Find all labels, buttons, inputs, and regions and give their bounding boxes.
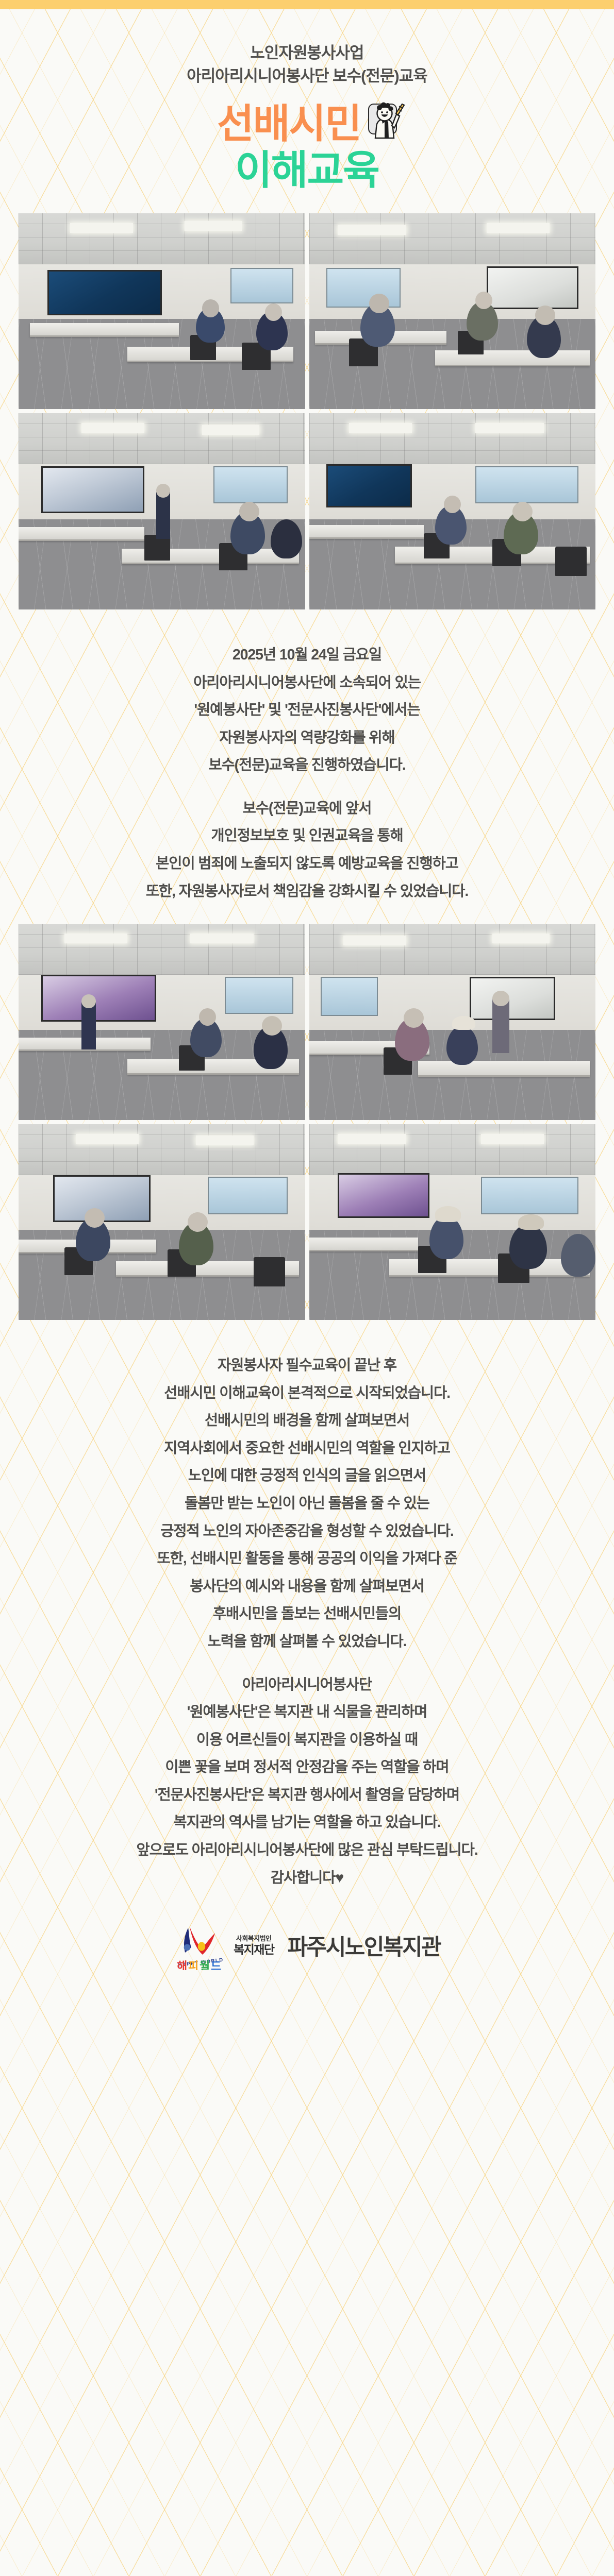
photo-group-lecture-room-photos-1 — [0, 213, 614, 609]
paragraph-line: 선배시민의 배경을 함께 살펴보면서 — [9, 1407, 605, 1435]
paragraph-line: 지역사회에서 중요한 선배시민의 역할을 인지하고 — [9, 1435, 605, 1463]
paragraph-line: 감사합니다♥ — [9, 1865, 605, 1892]
foundation-type-label: 사회복지법인 — [234, 1935, 274, 1942]
paragraph-line: '원예봉사단' 및 '전문사진봉사단'에서는 — [9, 697, 605, 724]
paragraph-line: 보수(전문)교육에 앞서 — [9, 795, 605, 823]
svg-text:해: 해 — [177, 1960, 187, 1970]
person-raising-hand-icon — [368, 104, 397, 134]
svg-text:드: 드 — [211, 1960, 221, 1970]
paragraph-line: 노인에 대한 긍정적 인식의 글을 읽으면서 — [9, 1462, 605, 1490]
photo-thumbnail — [309, 213, 596, 410]
footer: HAPPY WORLD 해 피 월 드 사회복지법인 복지재단 파주시노인복지관 — [0, 1921, 614, 1988]
paragraph-line: 노력을 함께 살펴볼 수 있었습니다. — [9, 1628, 605, 1656]
photo-thumbnail — [309, 1124, 596, 1320]
header-line-2: 아리아리시니어봉사단 보수(전문)교육 — [0, 64, 614, 88]
paragraph-line: 이용 어르신들이 복지관을 이용하실 때 — [9, 1726, 605, 1754]
svg-text:피: 피 — [188, 1960, 198, 1970]
top-accent-bar — [0, 0, 614, 9]
photo-thumbnail — [309, 924, 596, 1120]
title-orange-text: 선배시민 — [217, 101, 361, 146]
paragraph-line: 아리아리시니어봉사단에 소속되어 있는 — [9, 669, 605, 697]
title-green-text: 이해교육 — [0, 146, 614, 194]
paragraph-line: 아리아리시니어봉사단 — [9, 1671, 605, 1699]
paragraph-line: 개인정보보호 및 인권교육을 통해 — [9, 822, 605, 850]
photo-thumbnail — [19, 924, 305, 1120]
title-first-row: 선배시민 — [0, 101, 614, 146]
poster-title: 선배시민 — [0, 101, 614, 194]
paragraph-line: 돌봄만 받는 노인이 아닌 돌봄을 줄 수 있는 — [9, 1490, 605, 1518]
paragraph-line: '전문사진봉사단'은 복지관 행사에서 촬영을 담당하며 — [9, 1782, 605, 1809]
photo-thumbnail — [19, 213, 305, 410]
text-block-intro-paragraph: 2025년 10월 24일 금요일 아리아리시니어봉사단에 소속되어 있는 '원… — [0, 641, 614, 905]
paragraph-line: 앞으로도 아리아리시니어봉사단에 많은 관심 부탁드립니다. — [9, 1837, 605, 1865]
foundation-wordmark: 사회복지법인 복지재단 — [234, 1935, 274, 1956]
photo-group-lecture-room-photos-2 — [0, 924, 614, 1320]
photo-thumbnail — [19, 1124, 305, 1320]
paragraph-line: 이쁜 꽃을 보며 정서적 안정감을 주는 역할을 하며 — [9, 1754, 605, 1782]
foundation-name-label: 복지재단 — [234, 1943, 274, 1956]
paragraph-line: 2025년 10월 24일 금요일 — [9, 641, 605, 669]
paragraph-line: 보수(전문)교육을 진행하였습니다. — [9, 752, 605, 779]
paragraph-line: 후배시민을 돌보는 선배시민들의 — [9, 1600, 605, 1628]
paragraph-line: 본인이 범죄에 노출되지 않도록 예방교육을 진행하고 — [9, 850, 605, 878]
paragraph-spacer — [9, 1656, 605, 1671]
paragraph-line: 자원봉사자 필수교육이 끝난 후 — [9, 1352, 605, 1380]
paragraph-line: 선배시민 이해교육이 본격적으로 시작되었습니다. — [9, 1380, 605, 1408]
paragraph-line: 봉사단의 예시와 내용을 함께 살펴보면서 — [9, 1573, 605, 1601]
photo-thumbnail — [19, 413, 305, 609]
paragraph-line: 긍정적 노인의 자아존중감을 형성할 수 있었습니다. — [9, 1518, 605, 1546]
happy-world-crown-logo-icon: HAPPY WORLD 해 피 월 드 — [174, 1921, 228, 1970]
organization-name: 파주시노인복지관 — [288, 1929, 440, 1961]
paragraph-line: '원예봉사단'은 복지관 내 식물을 관리하며 — [9, 1699, 605, 1726]
paragraph-spacer — [9, 779, 605, 795]
paragraph-line: 또한, 자원봉사자로서 책임감을 강화시킬 수 있었습니다. — [9, 878, 605, 906]
poster-header: 노인자원봉사사업 아리아리시니어봉사단 보수(전문)교육 — [0, 9, 614, 88]
text-block-education-detail-paragraph: 자원봉사자 필수교육이 끝난 후 선배시민 이해교육이 본격적으로 시작되었습니… — [0, 1352, 614, 1892]
paragraph-line: 또한, 선배시민 활동을 통해 공공의 이익을 가져다 준 — [9, 1545, 605, 1573]
poster-page: 노인자원봉사사업 아리아리시니어봉사단 보수(전문)교육 선배시민 — [0, 0, 614, 2576]
svg-text:월: 월 — [200, 1960, 210, 1970]
paragraph-line: 자원봉사자의 역량강화를 위해 — [9, 724, 605, 752]
photo-thumbnail — [309, 413, 596, 609]
header-line-1: 노인자원봉사사업 — [0, 41, 614, 64]
paragraph-line: 복지관의 역사를 남기는 역할을 하고 있습니다. — [9, 1809, 605, 1837]
